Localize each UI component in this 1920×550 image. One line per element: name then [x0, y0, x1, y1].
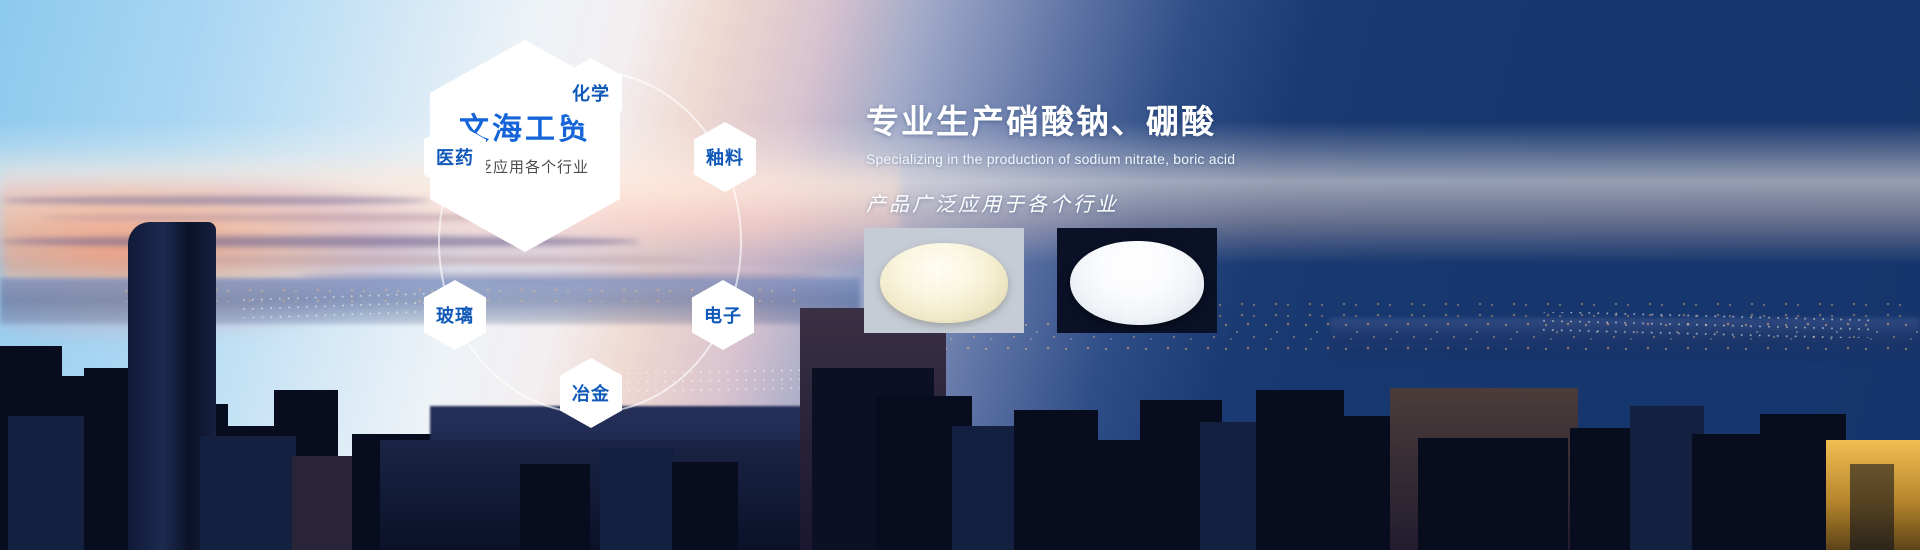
- powder-grain-texture: [880, 243, 1008, 323]
- promo-banner: 文海工贸 广泛应用各个行业 化学 釉料 电子 冶金 玻璃 医药 专业生产硝酸钠、…: [0, 0, 1920, 550]
- product-photo-boric-acid[interactable]: [1057, 228, 1217, 333]
- powder-grain-texture: [1070, 241, 1204, 325]
- industry-hex-diagram: 文海工贸 广泛应用各个行业 化学 釉料 电子 冶金 玻璃 医药: [430, 40, 750, 440]
- page-title: 专业生产硝酸钠、硼酸: [866, 103, 1386, 142]
- tagline: 产品广泛应用于各个行业: [866, 188, 1386, 217]
- powder-pile: [1070, 241, 1204, 325]
- powder-pile: [880, 243, 1008, 323]
- headline-block: 专业生产硝酸钠、硼酸 Specializing in the productio…: [866, 103, 1386, 217]
- product-photo-row: [864, 228, 1217, 333]
- english-subtitle: Specializing in the production of sodium…: [866, 151, 1386, 167]
- product-photo-sodium-nitrate[interactable]: [864, 228, 1024, 333]
